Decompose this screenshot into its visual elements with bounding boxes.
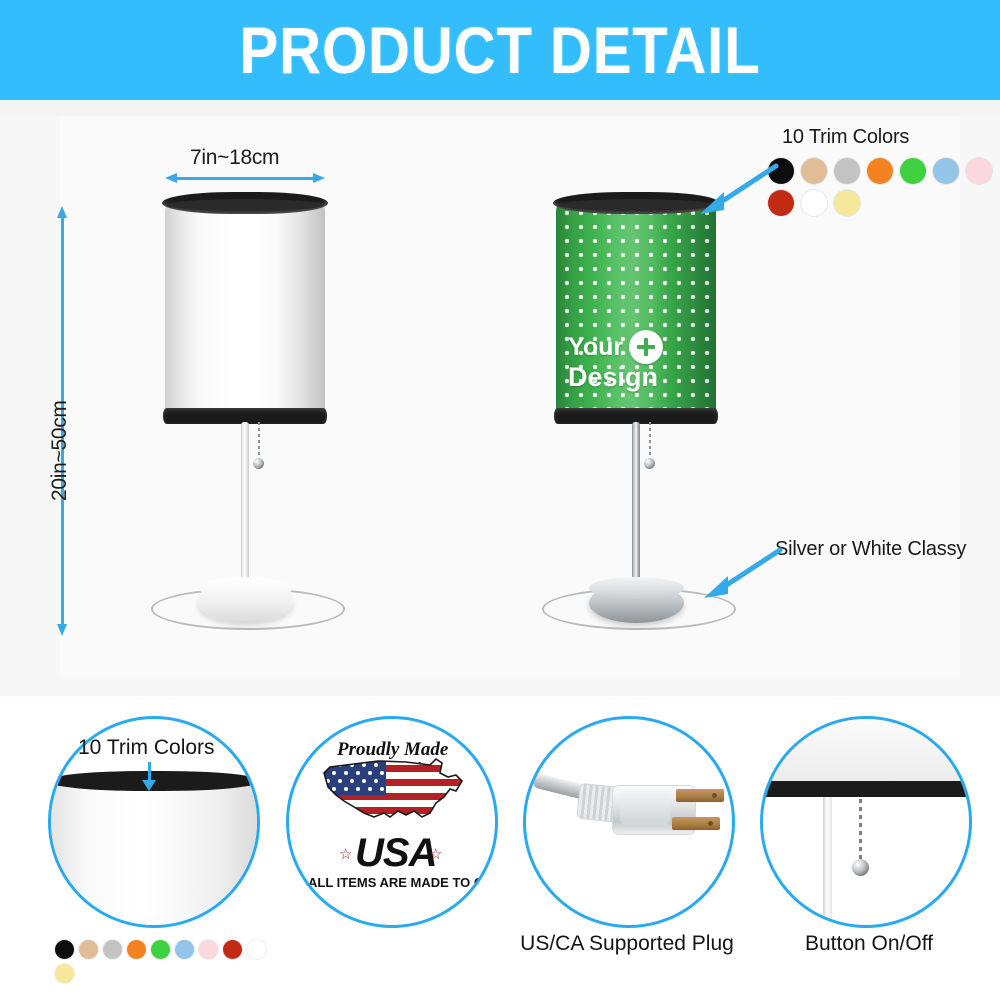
- usa-star-left: ☆: [339, 845, 352, 863]
- plus-circle-icon[interactable]: [629, 330, 663, 364]
- trim-swatch-light-blue[interactable]: [933, 158, 959, 184]
- trim-swatch-green[interactable]: [900, 158, 926, 184]
- your-design-line2: Design: [568, 362, 708, 393]
- lamp-base-top: [198, 577, 293, 599]
- feature-circle-plug-caption: US/CA Supported Plug: [507, 932, 747, 956]
- trim-colors-pointer-arrow: [692, 160, 782, 220]
- trim-swatch-white[interactable]: [801, 190, 827, 216]
- pull-chain-ball[interactable]: [644, 458, 655, 469]
- header-divider: [0, 100, 1000, 116]
- plug-prong-hole-bottom: [708, 821, 713, 826]
- shade-bottom-edge: [763, 719, 969, 783]
- usa-star-right: ☆: [429, 845, 442, 863]
- trim-swatch-green[interactable]: [151, 940, 170, 959]
- feature-circle-plug: [523, 716, 735, 928]
- trim-ring-inner: [558, 199, 714, 211]
- trim-colors-callout-label: 10 Trim Colors: [782, 126, 909, 149]
- your-design-line1: Your: [568, 333, 623, 362]
- trim-swatch-yellow[interactable]: [834, 190, 860, 216]
- trim-swatch-yellow[interactable]: [55, 964, 74, 983]
- your-design-overlay: Your Design: [568, 330, 708, 393]
- base-finish-pointer-arrow: [696, 544, 786, 604]
- trim-ring-top: [162, 192, 328, 214]
- pole-closeup: [823, 797, 832, 925]
- height-dimension-label: 20in~50cm: [48, 400, 72, 501]
- trim-swatch-red[interactable]: [223, 940, 242, 959]
- plug-body-highlight: [620, 793, 670, 825]
- header-banner: PRODUCT DETAIL: [0, 0, 1000, 100]
- trim-down-arrow-line: [148, 762, 151, 782]
- plug-prong-hole-top: [712, 793, 717, 798]
- trim-closeup: [763, 781, 969, 797]
- pull-chain-ball-closeup[interactable]: [852, 859, 869, 876]
- trim-swatch-white[interactable]: [247, 940, 266, 959]
- usa-map-flag-icon: [314, 751, 474, 837]
- shade-gloss: [165, 202, 325, 424]
- product-detail-page: PRODUCT DETAIL 7in~18cm 20in~50cm: [0, 0, 1000, 1000]
- arrow-down-head: [57, 624, 67, 636]
- trim-swatch-black[interactable]: [55, 940, 74, 959]
- trim-swatch-tan[interactable]: [801, 158, 827, 184]
- arrow-line: [173, 177, 317, 180]
- trim-color-swatches-top: [768, 158, 1000, 222]
- main-showcase-panel: 7in~18cm 20in~50cm: [0, 116, 1000, 696]
- lampshade-blank: [165, 202, 325, 424]
- lampshade-design: Your Design: [556, 202, 716, 424]
- base-finish-callout-label: Silver or White Classy: [775, 538, 966, 561]
- feature-circles-row: 10 Trim Colors Proudly Made in the: [0, 700, 1000, 1000]
- pull-chain-ball[interactable]: [253, 458, 264, 469]
- trim-swatch-orange[interactable]: [127, 940, 146, 959]
- feature-circle-switch-caption: Button On/Off: [784, 932, 954, 956]
- feature-circle-made-in-usa: Proudly Made in the: [286, 716, 498, 928]
- page-title: PRODUCT DETAIL: [239, 12, 760, 88]
- trim-swatch-tan[interactable]: [79, 940, 98, 959]
- pull-chain: [649, 422, 651, 460]
- trim-swatch-gray[interactable]: [834, 158, 860, 184]
- trim-swatch-light-blue[interactable]: [175, 940, 194, 959]
- trim-color-swatches-bottom: [55, 940, 285, 988]
- trim-swatch-pink[interactable]: [966, 158, 992, 184]
- feature-circle-trim-colors-label: 10 Trim Colors: [78, 736, 215, 760]
- width-dimension-arrow: [165, 173, 325, 183]
- shade-closeup-body: [51, 781, 257, 928]
- lamp-base-top: [589, 577, 684, 599]
- usa-line3: USA: [355, 831, 436, 876]
- pull-chain: [258, 422, 260, 460]
- trim-ring-inner: [167, 199, 323, 211]
- feature-circle-switch: [760, 716, 972, 928]
- trim-swatch-gray[interactable]: [103, 940, 122, 959]
- arrow-right-head: [313, 173, 325, 183]
- pull-chain-closeup[interactable]: [859, 799, 862, 863]
- trim-down-arrow-head: [142, 780, 156, 791]
- trim-swatch-pink[interactable]: [199, 940, 218, 959]
- trim-swatch-orange[interactable]: [867, 158, 893, 184]
- usa-line4: ALL ITEMS ARE MADE TO ORDER!: [308, 875, 498, 890]
- width-dimension-label: 7in~18cm: [190, 146, 279, 170]
